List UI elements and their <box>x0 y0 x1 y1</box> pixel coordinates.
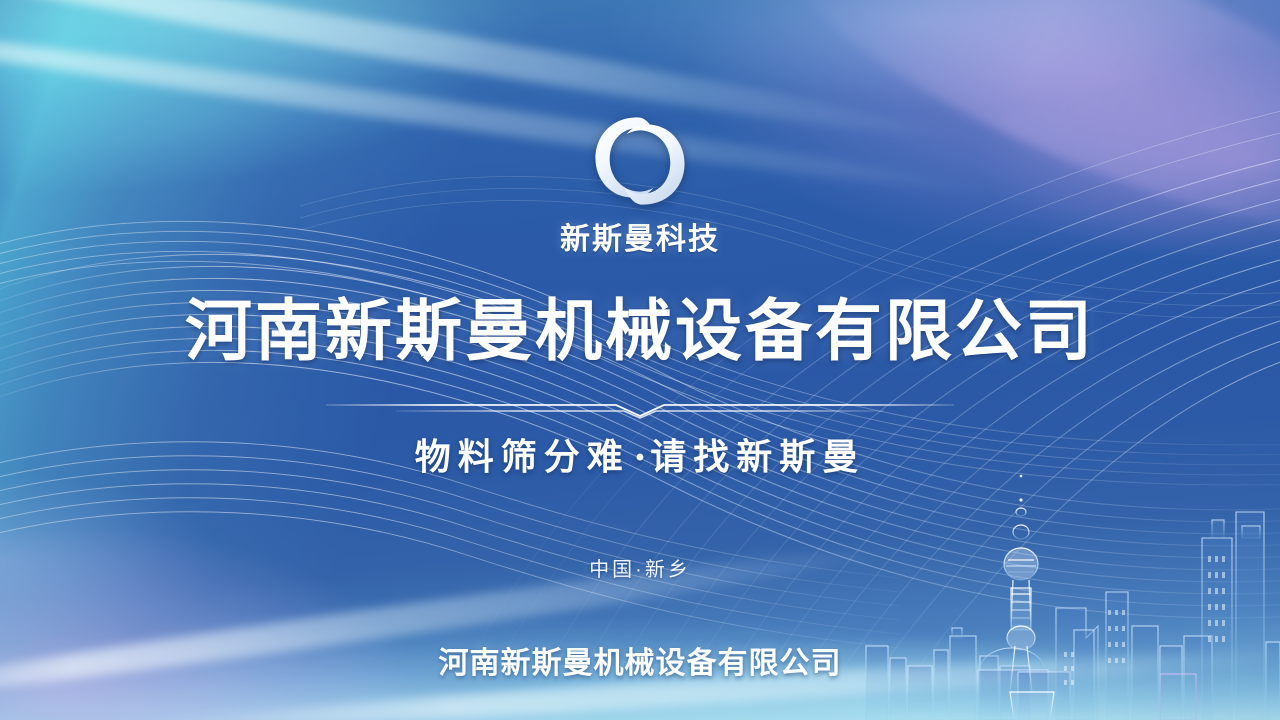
brand-wordmark: 新斯曼科技 <box>560 214 720 258</box>
slogan-separator-icon: • <box>630 444 650 471</box>
slogan-right-text: 请找新斯曼 <box>650 436 865 477</box>
chevron-divider-icon <box>0 398 1280 420</box>
location-text: 中国·新乡 <box>0 553 1280 582</box>
slogan: 物料筛分难•请找新斯曼 <box>0 428 1280 480</box>
swirl-s-logo-icon <box>586 112 694 210</box>
slide-content: 新斯曼科技 河南新斯曼机械设备有限公司 <box>0 0 1280 720</box>
slide-canvas: 新斯曼科技 河南新斯曼机械设备有限公司 <box>0 0 1280 720</box>
page-title: 河南新斯曼机械设备有限公司 <box>0 297 1280 367</box>
footer-caption: 河南新斯曼机械设备有限公司 <box>0 638 1280 682</box>
brand-logo-block: 新斯曼科技 <box>0 112 1280 258</box>
slogan-left-text: 物料筛分难 <box>415 436 630 477</box>
